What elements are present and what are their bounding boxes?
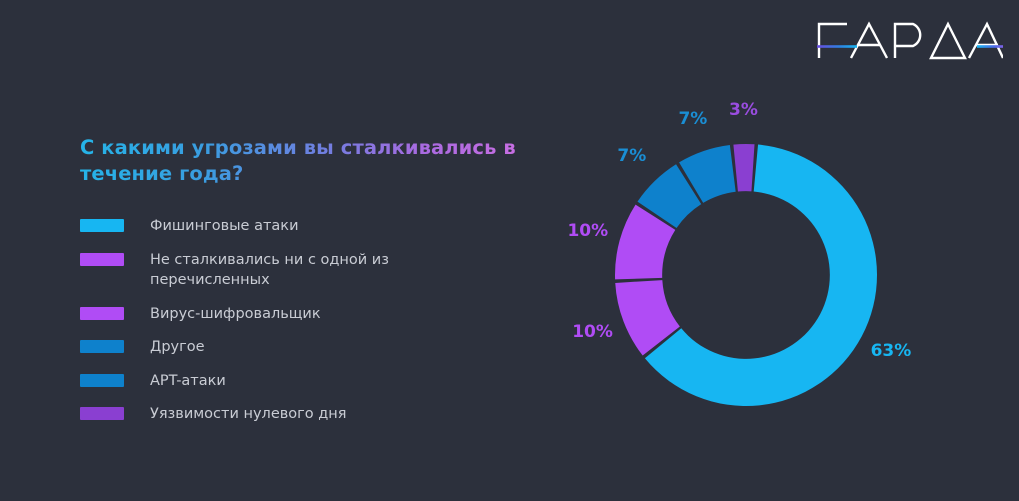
donut-chart: 63%10%10%7%7%3% — [588, 112, 918, 442]
slide-canvas: С какими угрозами вы сталкивались в тече… — [0, 0, 1019, 501]
legend-item-label: Другое — [150, 337, 205, 358]
legend-swatch — [80, 219, 124, 232]
legend-swatch — [80, 253, 124, 266]
donut-data-label: 10% — [572, 322, 613, 342]
legend-item[interactable]: Другое — [80, 337, 480, 358]
legend-item[interactable]: APT-атаки — [80, 371, 480, 392]
legend-item[interactable]: Фишинговые атаки — [80, 216, 480, 237]
legend-item[interactable]: Уязвимости нулевого дня — [80, 404, 480, 425]
donut-data-label: 3% — [729, 100, 758, 120]
garda-logo — [813, 14, 1003, 66]
legend-swatch — [80, 374, 124, 387]
legend-item-label: Уязвимости нулевого дня — [150, 404, 347, 425]
legend-item[interactable]: Вирус-шифровальщик — [80, 304, 480, 325]
page-title: С какими угрозами вы сталкивались в тече… — [80, 135, 520, 187]
legend-item[interactable]: Не сталкивались ни с одной из перечислен… — [80, 250, 480, 291]
legend-swatch — [80, 340, 124, 353]
legend-swatch — [80, 407, 124, 420]
legend-item-label: Вирус-шифровальщик — [150, 304, 321, 325]
legend-swatch — [80, 307, 124, 320]
legend-item-label: Не сталкивались ни с одной из перечислен… — [150, 250, 389, 291]
donut-data-label: 7% — [678, 109, 707, 129]
legend-item-label: APT-атаки — [150, 371, 226, 392]
donut-data-label: 63% — [871, 341, 912, 361]
donut-slice[interactable] — [733, 144, 754, 192]
garda-logo-mark — [817, 14, 1003, 66]
chart-legend: Фишинговые атаки Не сталкивались ни с од… — [80, 216, 480, 438]
legend-item-label: Фишинговые атаки — [150, 216, 299, 237]
donut-data-label: 7% — [617, 146, 646, 166]
donut-data-label: 10% — [567, 221, 608, 241]
